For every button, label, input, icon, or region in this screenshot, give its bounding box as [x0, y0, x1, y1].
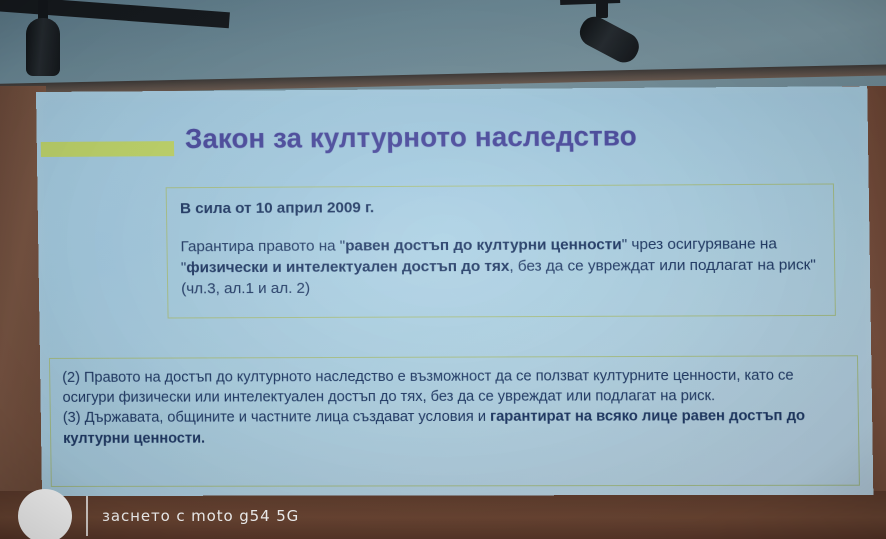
- title-accent-bar: [41, 141, 174, 157]
- text-run: физически и интелектуален достъп до тях: [186, 258, 509, 277]
- text-run: (2) Правото на достъп до културното насл…: [62, 368, 794, 407]
- watermark-divider: [86, 496, 88, 536]
- light-can-icon: [26, 18, 60, 76]
- watermark-text: заснето с moto g54 5G: [102, 507, 299, 525]
- text-run: равен достъп до културни ценности: [345, 236, 622, 254]
- law-clauses-paragraph: (2) Правото на достъп до културното насл…: [62, 365, 846, 448]
- guarantee-paragraph: Гарантира правото на "равен достъп до ку…: [180, 233, 821, 299]
- photo-frame: Закон за културното наследство В сила от…: [0, 0, 886, 539]
- slide-title: Закон за културното наследство: [185, 119, 793, 155]
- presentation-slide: Закон за културното наследство В сила от…: [36, 86, 873, 496]
- text-run: Гарантира правото на ": [180, 237, 345, 255]
- projection-screen: Закон за културното наследство В сила от…: [36, 86, 873, 496]
- light-stem-icon: [596, 0, 608, 18]
- text-box-primary: В сила от 10 април 2009 г. Гарантира пра…: [166, 183, 836, 318]
- camera-watermark: заснето с moto g54 5G: [18, 489, 299, 539]
- text-run: (3) Държавата, общините и частните лица …: [63, 409, 490, 426]
- motorola-m-logo-icon: [18, 489, 72, 539]
- effective-date-text: В сила от 10 април 2009 г.: [180, 199, 374, 217]
- text-box-secondary: (2) Правото на достъп до културното насл…: [49, 355, 860, 487]
